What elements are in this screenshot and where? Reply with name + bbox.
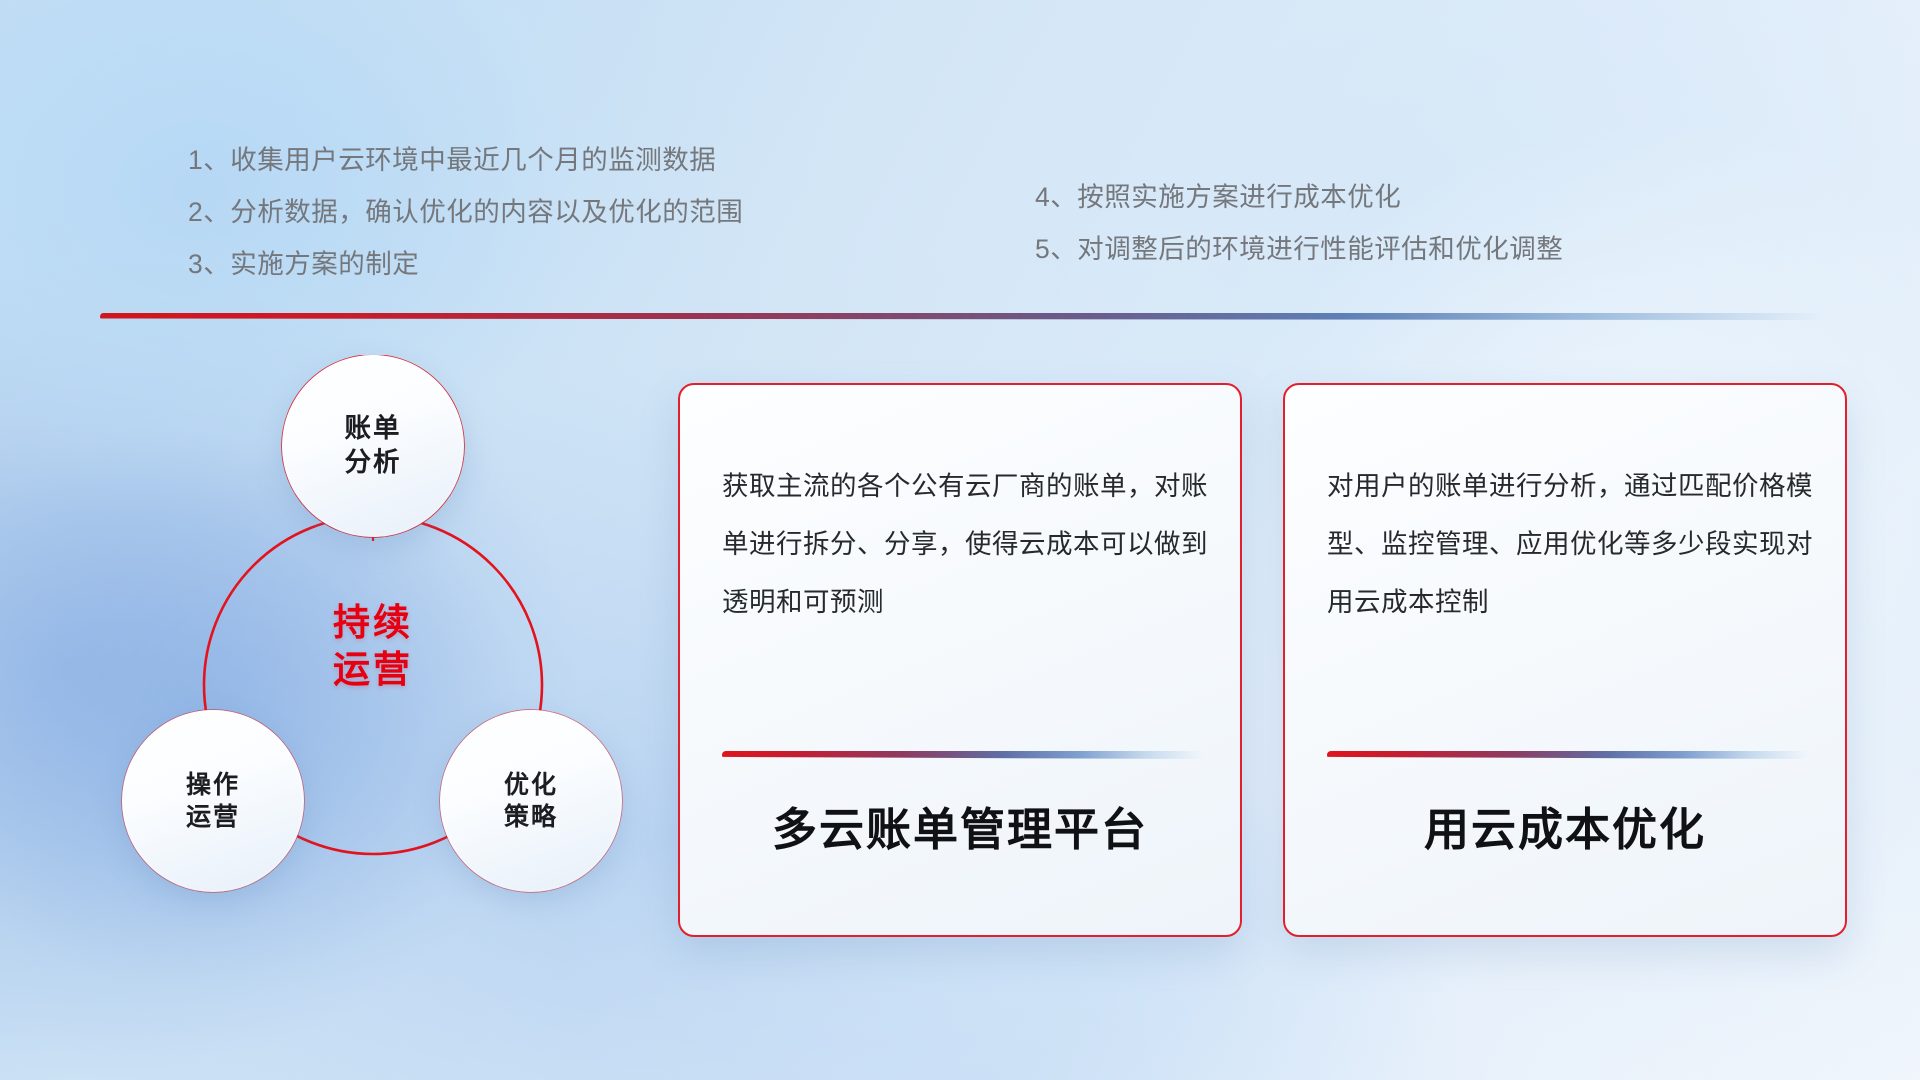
step-item-2: 2、分析数据，确认优化的内容以及优化的范围 [188, 186, 743, 238]
diagram-node-strategy-line1: 优化 [504, 769, 558, 801]
steps-list-left: 1、收集用户云环境中最近几个月的监测数据 2、分析数据，确认优化的内容以及优化的… [148, 134, 743, 290]
diagram-node-operations[interactable]: 操作 运营 [122, 710, 304, 892]
diagram-center-label-line1: 持续 [281, 599, 465, 646]
card-cloud-cost-optimization[interactable]: 对用户的账单进行分析，通过匹配价格模型、监控管理、应用优化等多少段实现对用云成本… [1283, 383, 1847, 937]
step-item-5: 5、对调整后的环境进行性能评估和优化调整 [1035, 223, 1563, 275]
diagram-center-label: 持续 运营 [281, 599, 465, 694]
diagram-node-operations-line2: 运营 [186, 801, 240, 833]
diagram-node-operations-line1: 操作 [186, 769, 240, 801]
section-divider [100, 313, 1825, 320]
step-item-3: 3、实施方案的制定 [188, 238, 743, 290]
card-1-title: 多云账单管理平台 [680, 793, 1240, 858]
card-2-title: 用云成本优化 [1285, 793, 1845, 858]
card-1-body: 获取主流的各个公有云厂商的账单，对账单进行拆分、分享，使得云成本可以做到透明和可… [722, 457, 1210, 631]
card-2-body: 对用户的账单进行分析，通过匹配价格模型、监控管理、应用优化等多少段实现对用云成本… [1327, 457, 1815, 631]
continuous-operations-diagram: 账单 分析 操作 运营 优化 策略 持续 运营 [95, 355, 640, 925]
diagram-center-label-line2: 运营 [281, 646, 465, 693]
card-1-rule [722, 751, 1204, 759]
diagram-node-bill-analysis-line2: 分析 [345, 446, 402, 480]
diagram-node-strategy-line2: 策略 [504, 801, 558, 833]
slide-canvas: 1、收集用户云环境中最近几个月的监测数据 2、分析数据，确认优化的内容以及优化的… [0, 0, 1920, 1080]
diagram-node-strategy[interactable]: 优化 策略 [440, 710, 622, 892]
card-multi-cloud-billing-platform[interactable]: 获取主流的各个公有云厂商的账单，对账单进行拆分、分享，使得云成本可以做到透明和可… [678, 383, 1242, 937]
card-2-rule [1327, 751, 1809, 759]
step-item-4: 4、按照实施方案进行成本优化 [1035, 171, 1563, 223]
diagram-node-bill-analysis[interactable]: 账单 分析 [282, 355, 464, 537]
step-item-1: 1、收集用户云环境中最近几个月的监测数据 [188, 134, 743, 186]
steps-list-right: 4、按照实施方案进行成本优化 5、对调整后的环境进行性能评估和优化调整 [995, 171, 1563, 275]
diagram-node-bill-analysis-line1: 账单 [345, 412, 402, 446]
